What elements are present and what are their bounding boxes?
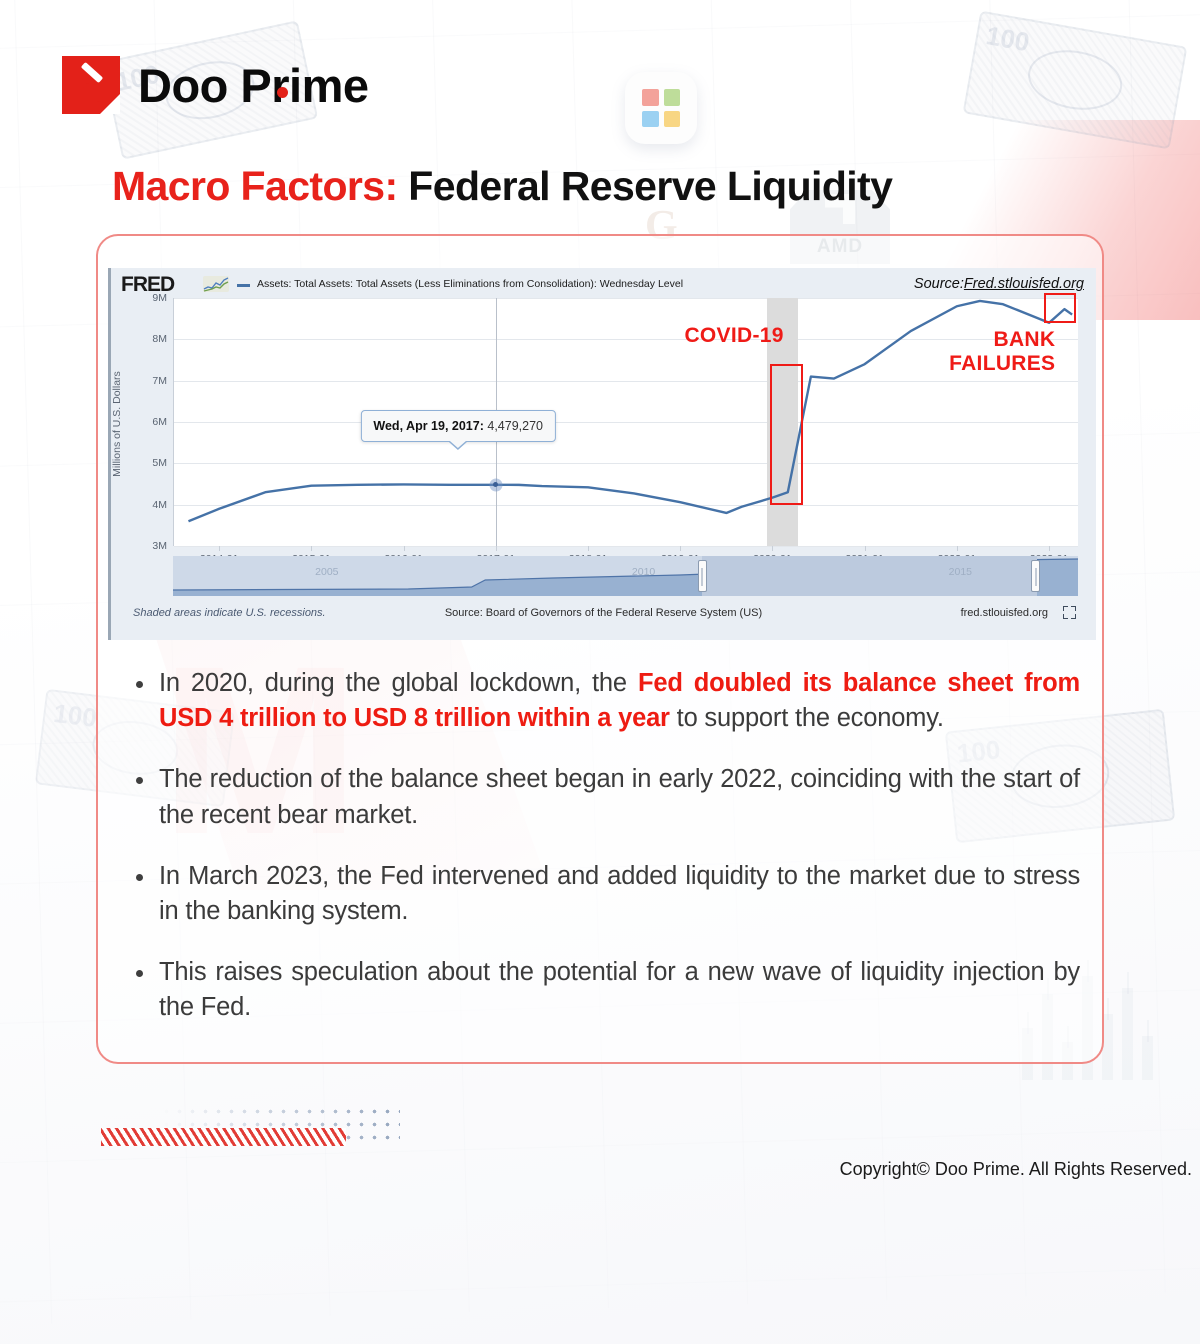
bullet-seg: to support the economy.	[670, 704, 944, 732]
brand-name: Doo Prime	[138, 58, 369, 113]
plot-canvas: 9M 8M 7M 6M 5M 4M 3M 2014-01 2015-0	[173, 298, 1078, 546]
bullet-seg: In March 2023, the Fed intervened and ad…	[159, 862, 1080, 925]
minimap-year-label: 2015	[949, 566, 972, 578]
y-tick-label: 4M	[152, 499, 167, 511]
page-title: Macro Factors: Federal Reserve Liquidity	[112, 163, 892, 210]
y-axis-label: Millions of U.S. Dollars	[111, 371, 123, 477]
legend-label: Assets: Total Assets: Total Assets (Less…	[257, 278, 683, 290]
list-item: In March 2023, the Fed intervened and ad…	[136, 859, 1080, 929]
annotation-bank-line1: BANK	[994, 328, 1056, 351]
fred-chart: FRED Assets: Total Assets: Total Assets …	[108, 268, 1096, 640]
brand-header: Doo Prime	[62, 56, 369, 114]
bullet-text-4: This raises speculation about the potent…	[159, 955, 1080, 1025]
plot-area: 9M 8M 7M 6M 5M 4M 3M 2014-01 2015-0	[173, 298, 1078, 546]
source-prefix: Source:	[914, 276, 964, 292]
y-tick-label: 7M	[152, 375, 167, 387]
fred-chart-header: FRED Assets: Total Assets: Total Assets …	[111, 268, 1096, 298]
recession-note: Shaded areas indicate U.S. recessions.	[133, 607, 326, 619]
bullet-list: In 2020, during the global lockdown, the…	[136, 666, 1080, 1052]
highlight-box-covid	[770, 364, 803, 505]
banknote-icon: 100	[963, 11, 1188, 150]
microsoft-logo-icon	[625, 72, 697, 144]
bullet-text-1: In 2020, during the global lockdown, the…	[159, 666, 1080, 736]
bullet-dot-icon	[136, 681, 143, 688]
chart-tooltip: Wed, Apr 19, 2017: 4,479,270	[360, 410, 556, 442]
minimap-year-label: 2010	[632, 566, 655, 578]
source-url: Fred.stlouisfed.org	[964, 276, 1084, 292]
stripe-pattern-decoration	[101, 1128, 346, 1146]
fred-chart-footer: Shaded areas indicate U.S. recessions. S…	[125, 604, 1082, 628]
range-selector[interactable]: 2005 2010 2015 2020	[173, 556, 1078, 596]
highlight-box-bank	[1044, 293, 1077, 323]
expand-icon[interactable]	[1063, 606, 1076, 619]
range-handle-right[interactable]	[1031, 560, 1040, 592]
bullet-text-3: In March 2023, the Fed intervened and ad…	[159, 859, 1080, 929]
bullet-seg: The reduction of the balance sheet began…	[159, 765, 1080, 828]
chart-site-url: fred.stlouisfed.org	[961, 607, 1048, 619]
list-item: This raises speculation about the potent…	[136, 955, 1080, 1025]
content-card: FRED Assets: Total Assets: Total Assets …	[96, 234, 1104, 1064]
bullet-dot-icon	[136, 970, 143, 977]
y-tick-label: 3M	[152, 540, 167, 552]
page-title-rest: Federal Reserve Liquidity	[398, 163, 893, 209]
y-tick-label: 5M	[152, 457, 167, 469]
list-item: In 2020, during the global lockdown, the…	[136, 666, 1080, 736]
y-tick-label: 9M	[152, 292, 167, 304]
data-series-line	[174, 298, 1078, 546]
hover-data-point	[489, 478, 502, 491]
bullet-seg: This raises speculation about the potent…	[159, 958, 1080, 1021]
tooltip-date: Wed, Apr 19, 2017:	[373, 419, 483, 433]
list-item: The reduction of the balance sheet began…	[136, 762, 1080, 832]
bullet-text-2: The reduction of the balance sheet began…	[159, 762, 1080, 832]
copyright-notice: Copyright© Doo Prime. All Rights Reserve…	[840, 1159, 1192, 1180]
doo-prime-logo-icon	[62, 56, 120, 114]
bullet-dot-icon	[136, 777, 143, 784]
chart-source-note: Source: Board of Governors of the Federa…	[445, 607, 762, 619]
y-tick-label: 8M	[152, 333, 167, 345]
minimap-year-label: 2005	[315, 566, 338, 578]
annotation-covid-19: COVID-19	[684, 324, 783, 348]
bullet-seg: In 2020, during the global lockdown, the	[159, 669, 638, 697]
chart-source-link[interactable]: Source:Fred.stlouisfed.org	[914, 276, 1084, 292]
annotation-bank-failures: BANK FAILURES	[949, 328, 1055, 376]
range-selection	[702, 556, 1037, 596]
tooltip-value: 4,479,270	[487, 419, 543, 433]
legend-color-swatch	[237, 284, 250, 287]
range-handle-left[interactable]	[698, 560, 707, 592]
bullet-dot-icon	[136, 874, 143, 881]
y-tick-label: 6M	[152, 416, 167, 428]
annotation-bank-line2: FAILURES	[949, 352, 1055, 375]
fred-sparkline-icon	[203, 276, 229, 292]
page-title-accent: Macro Factors:	[112, 163, 398, 209]
